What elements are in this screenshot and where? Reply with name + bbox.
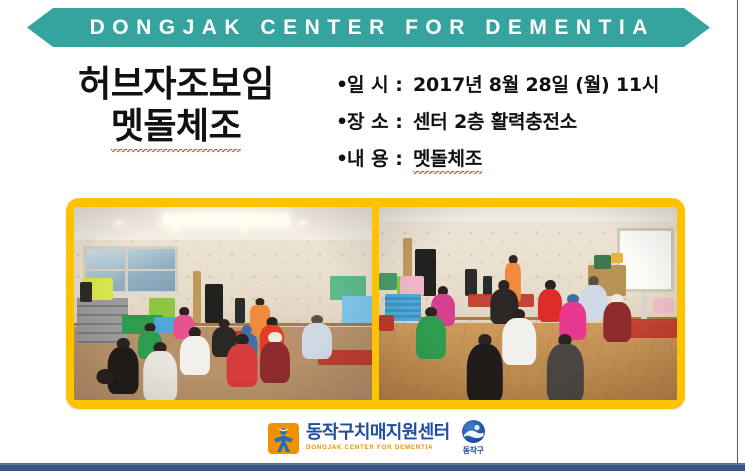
header-banner-title: DONGJAK CENTER FOR DEMENTIA	[27, 8, 710, 47]
event-info-value-content: 멧돌체조	[413, 144, 482, 174]
page-title-line-1: 허브자조보임	[36, 64, 316, 106]
page-title-line-2: 멧돌체조	[36, 106, 316, 151]
photo-instructor-leading-class	[379, 207, 677, 400]
photo-vignette	[379, 207, 677, 400]
event-info-label-datetime: 일 시 :	[347, 70, 413, 97]
event-info-value-location: 센터 2층 활력충전소	[413, 107, 577, 134]
center-logo-text: 동작구치매지원센터 DONGJAK CENTER FOR DEMENTIA	[306, 424, 450, 451]
event-info-row-content: • 내 용 : 멧돌체조	[336, 144, 721, 174]
bullet-icon: •	[336, 76, 347, 95]
page-right-border	[737, 0, 738, 471]
event-info-row-datetime: • 일 시 : 2017년 8월 28일 (월) 11시	[336, 70, 721, 97]
bullet-icon: •	[336, 113, 347, 132]
footer-logo: 동작구치매지원센터 DONGJAK CENTER FOR DEMENTIA 동작…	[268, 421, 485, 455]
slide-canvas: DONGJAK CENTER FOR DEMENTIA 허브자조보임 멧돌체조 …	[0, 0, 745, 471]
event-info-row-location: • 장 소 : 센터 2층 활력충전소	[336, 107, 721, 134]
header-banner: DONGJAK CENTER FOR DEMENTIA	[27, 8, 710, 47]
photo-vignette	[74, 207, 372, 400]
event-info-value-datetime: 2017년 8월 28일 (월) 11시	[413, 70, 659, 97]
event-info-label-location: 장 소 :	[347, 107, 413, 134]
district-name: 동작구	[463, 445, 484, 456]
page-bottom-band	[0, 463, 745, 471]
photo-exercise-room-wide	[74, 207, 372, 400]
dongjak-gu-emblem-icon	[462, 420, 485, 443]
center-name-korean: 동작구치매지원센터	[306, 424, 450, 442]
dongjak-gu-swoosh-icon	[462, 420, 485, 443]
center-name-english: DONGJAK CENTER FOR DEMENTIA	[306, 445, 450, 451]
bullet-icon: •	[336, 150, 347, 169]
photo-row	[74, 207, 677, 400]
center-logo-mark-icon	[268, 423, 299, 454]
page-title: 허브자조보임 멧돌체조	[36, 64, 316, 152]
center-logo-figure-icon	[268, 423, 299, 454]
event-info-list: • 일 시 : 2017년 8월 28일 (월) 11시 • 장 소 : 센터 …	[336, 70, 721, 184]
photo-frame	[66, 198, 685, 409]
event-info-label-content: 내 용 :	[347, 144, 413, 171]
district-logo: 동작구	[462, 420, 485, 456]
page-title-line-2-text: 멧돌체조	[111, 106, 241, 151]
